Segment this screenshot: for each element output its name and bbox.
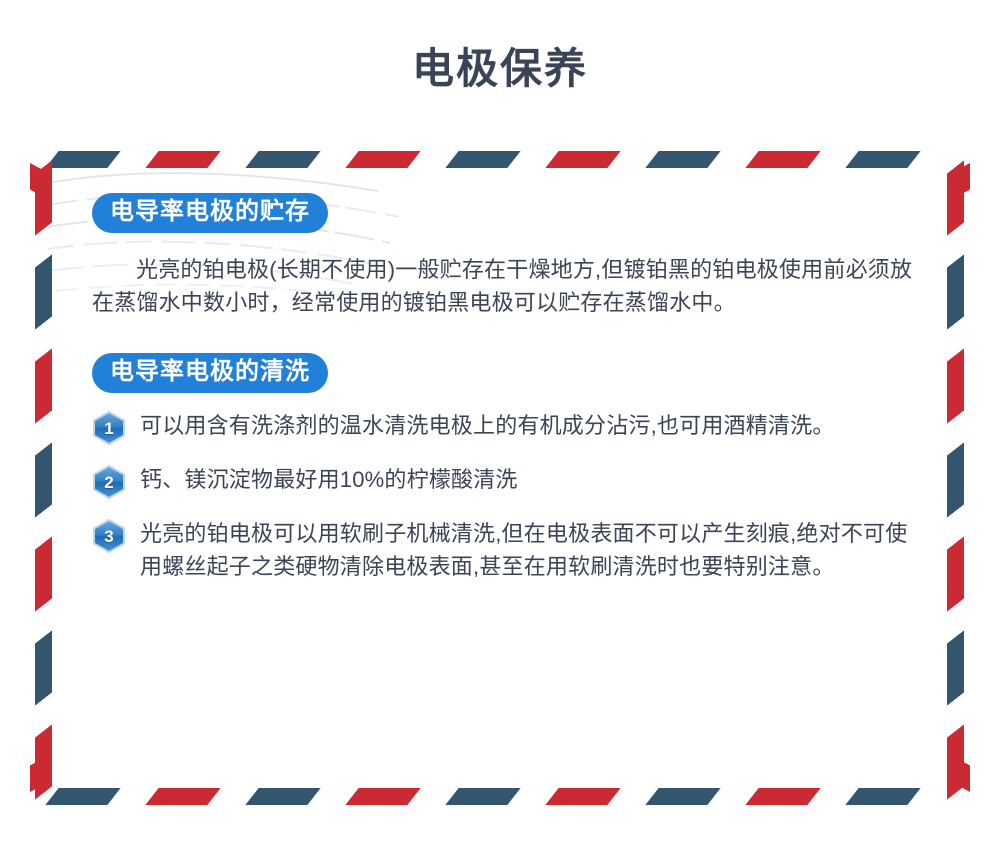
- border-dash: [35, 442, 52, 517]
- border-dash: [35, 254, 52, 329]
- border-dash: [35, 536, 52, 611]
- border-dash: [445, 151, 520, 168]
- border-strip-right: [942, 145, 970, 810]
- border-dash: [947, 442, 964, 517]
- border-dash: [745, 151, 820, 168]
- border-dash: [545, 788, 620, 805]
- step-text: 可以用含有洗涤剂的温水清洗电极上的有机成分沾污,也可用酒精清洗。: [140, 407, 835, 442]
- step-number-label: 1: [92, 411, 126, 445]
- envelope-card: 电导率电极的贮存 光亮的铂电极(长期不使用)一般贮存在干燥地方,但镀铂黑的铂电极…: [30, 145, 970, 810]
- border-dash: [645, 788, 720, 805]
- border-dash: [947, 348, 964, 423]
- list-item: 2 钙、镁沉淀物最好用10%的柠檬酸清洗: [92, 461, 924, 499]
- border-dash: [145, 788, 220, 805]
- border-dash: [845, 788, 920, 805]
- step-text: 钙、镁沉淀物最好用10%的柠檬酸清洗: [140, 461, 518, 496]
- border-dash: [545, 151, 620, 168]
- content-area: 电导率电极的贮存 光亮的铂电极(长期不使用)一般贮存在干燥地方,但镀铂黑的铂电极…: [92, 193, 924, 770]
- border-dash: [245, 788, 320, 805]
- section-cleaning: 电导率电极的清洗: [92, 353, 924, 583]
- border-dash: [645, 151, 720, 168]
- step-number-label: 3: [92, 519, 126, 553]
- step-number-label: 2: [92, 465, 126, 499]
- border-dash: [35, 630, 52, 705]
- border-strip-bottom: [30, 782, 970, 810]
- border-dash: [445, 788, 520, 805]
- section-heading-storage: 电导率电极的贮存: [92, 193, 328, 233]
- section-paragraph-storage: 光亮的铂电极(长期不使用)一般贮存在干燥地方,但镀铂黑的铂电极使用前必须放在蒸馏…: [92, 253, 922, 320]
- border-strip-top: [30, 145, 970, 173]
- border-dash: [145, 151, 220, 168]
- border-dash: [947, 630, 964, 705]
- border-dash: [745, 788, 820, 805]
- section-storage: 电导率电极的贮存 光亮的铂电极(长期不使用)一般贮存在干燥地方,但镀铂黑的铂电极…: [92, 193, 924, 319]
- section-heading-cleaning: 电导率电极的清洗: [92, 353, 328, 393]
- border-dash: [345, 788, 420, 805]
- page-title: 电极保养: [0, 0, 1000, 100]
- border-dash: [35, 348, 52, 423]
- step-number-badge-icon: 3: [92, 519, 126, 553]
- step-number-badge-icon: 2: [92, 465, 126, 499]
- step-number-badge-icon: 1: [92, 411, 126, 445]
- list-item: 1 可以用含有洗涤剂的温水清洗电极上的有机成分沾污,也可用酒精清洗。: [92, 407, 924, 445]
- list-item: 3 光亮的铂电极可以用软刷子机械清洗,但在电极表面不可以产生刻痕,绝对不可使用螺…: [92, 515, 924, 583]
- cleaning-steps-list: 1 可以用含有洗涤剂的温水清洗电极上的有机成分沾污,也可用酒精清洗。: [92, 407, 924, 583]
- border-dash: [947, 254, 964, 329]
- border-dash: [845, 151, 920, 168]
- border-dash: [245, 151, 320, 168]
- step-text: 光亮的铂电极可以用软刷子机械清洗,但在电极表面不可以产生刻痕,绝对不可使用螺丝起…: [140, 515, 924, 583]
- border-dash: [947, 536, 964, 611]
- border-dash: [345, 151, 420, 168]
- border-strip-left: [30, 145, 58, 810]
